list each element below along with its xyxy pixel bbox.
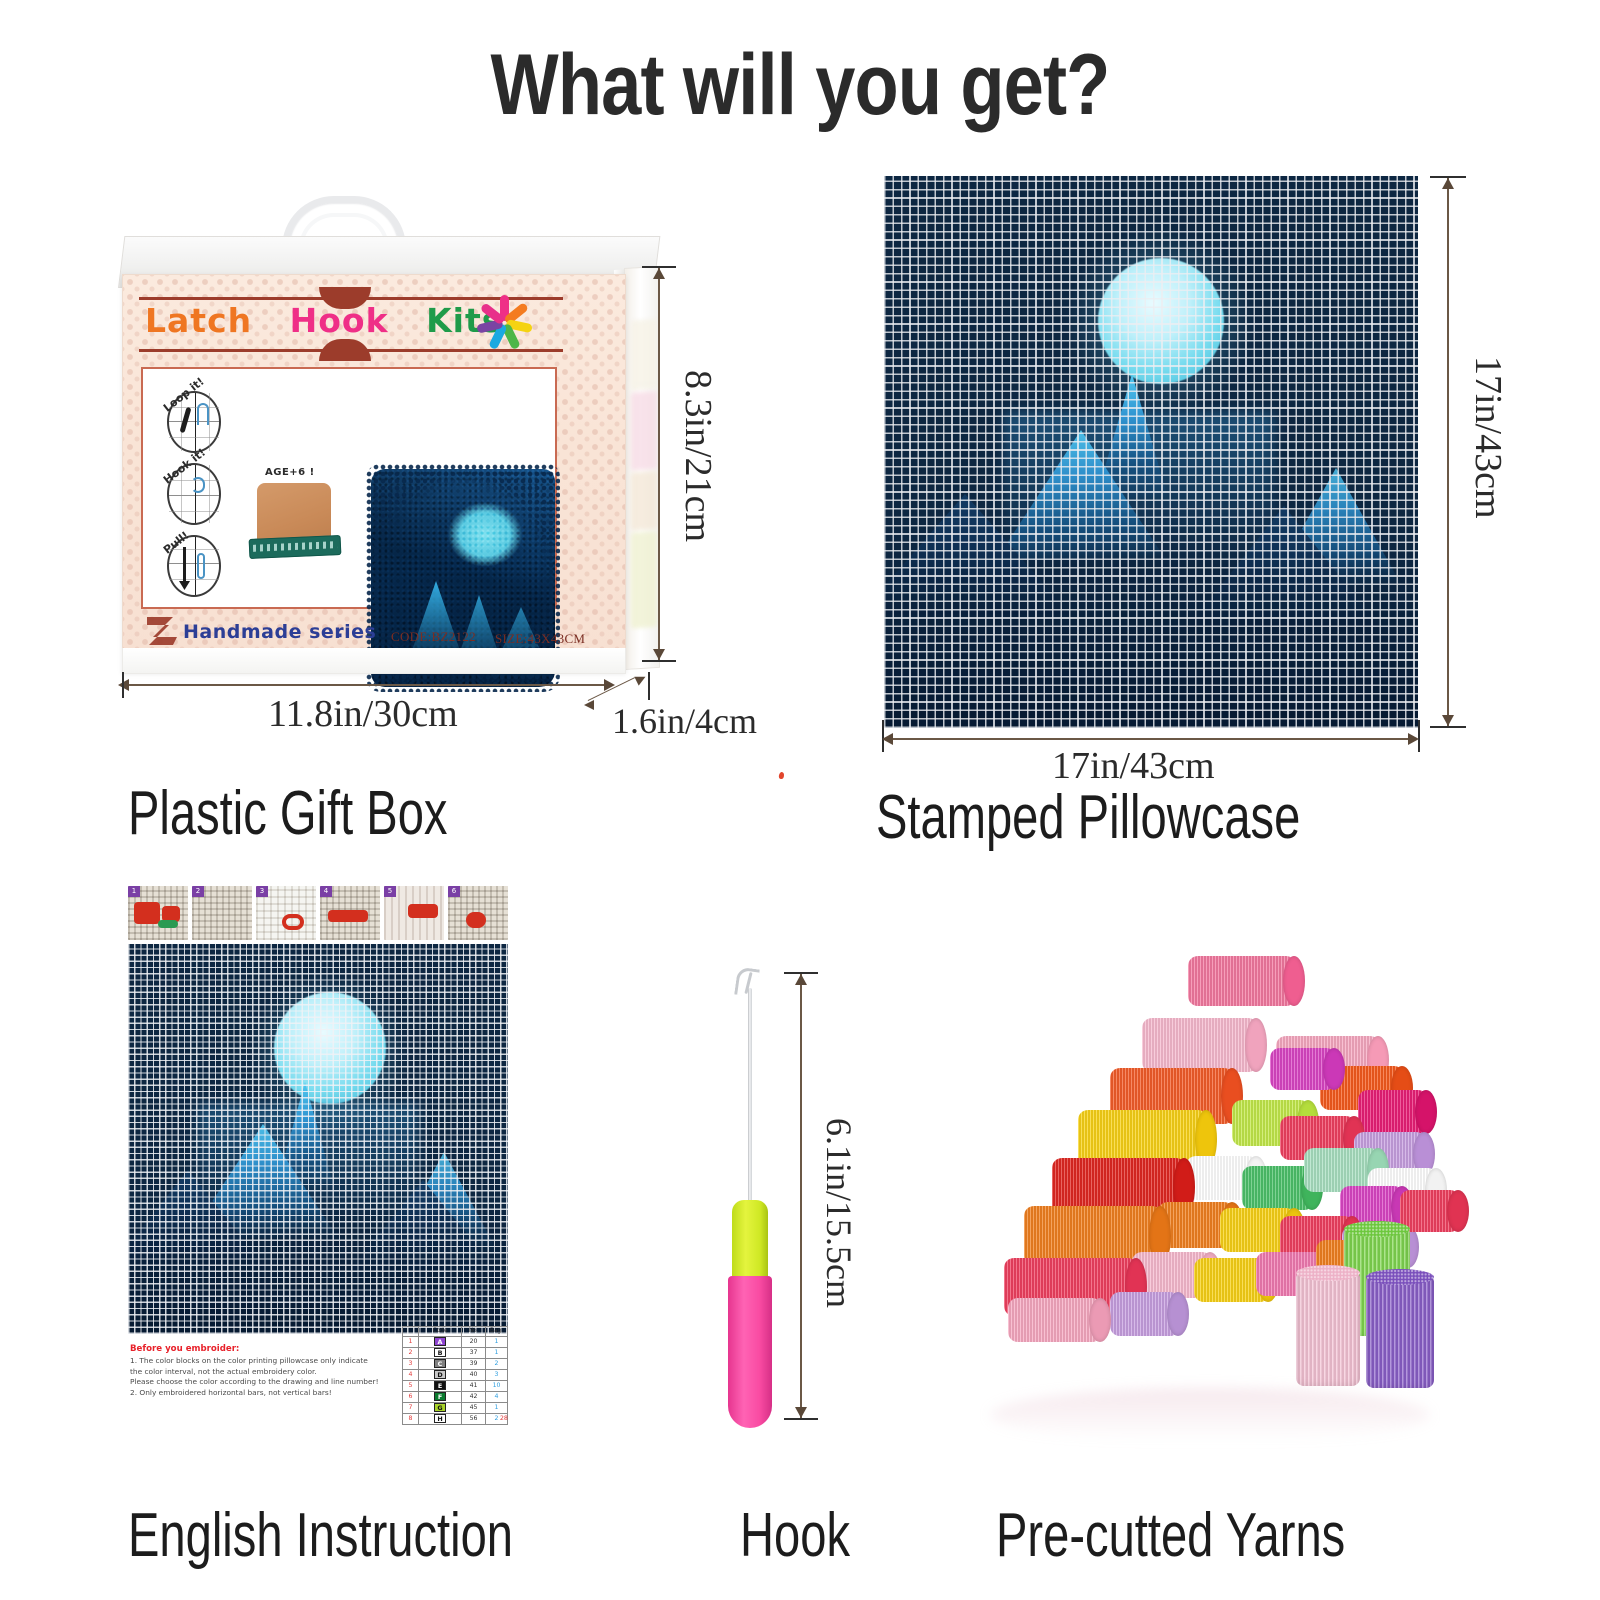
cell-index: 5 [403, 1380, 419, 1391]
caption-pre-cutted-yarns: Pre-cutted Yarns [996, 1500, 1345, 1571]
cell-index: 1 [403, 1336, 419, 1347]
hook-length-dim-line [800, 974, 802, 1418]
case-width-arrow-left [882, 733, 893, 745]
box-height-arrow-bottom [653, 649, 665, 660]
yarn-piece [1008, 1298, 1102, 1342]
moon-shape [1098, 258, 1224, 384]
yarn-piece [1270, 1048, 1336, 1090]
plastic-gift-box-image: Latch Hook Kits [108, 196, 668, 696]
yarn-bundle-pink [1296, 1272, 1360, 1386]
cell-index: 2 [403, 1347, 419, 1358]
instruction-thumbnail-strip: 1 2 3 4 5 [128, 886, 508, 940]
yarn-piece [1110, 1292, 1180, 1336]
box-brand-title: Latch Hook Kits [145, 301, 502, 340]
cell-no: 40 [462, 1369, 486, 1380]
cell-code: B [419, 1347, 462, 1358]
cell-code: A [419, 1336, 462, 1347]
thumbnail-badge: 4 [320, 886, 332, 897]
cell-bag: 1 [486, 1336, 508, 1347]
col-code: Code [419, 1327, 462, 1337]
cell-bag: 3 [486, 1369, 508, 1380]
color-swatch: E [434, 1381, 446, 1390]
stamped-pillowcase-image [884, 176, 1418, 728]
table-row: 7 G 45 1 [403, 1402, 508, 1413]
cell-code: C [419, 1358, 462, 1369]
case-width-dim-line [888, 738, 1414, 740]
table-row: 3 C 39 2 [403, 1358, 508, 1369]
cell-no: 56 [462, 1413, 486, 1424]
box-width-cap-left [122, 672, 124, 698]
pinwheel-logo-icon [473, 291, 535, 353]
case-height-arrow-bottom [1442, 715, 1454, 726]
mini-pillow-band [249, 535, 342, 559]
box-width-dim-line [124, 684, 612, 686]
color-swatch: B [434, 1348, 446, 1357]
color-swatch: D [434, 1370, 446, 1379]
case-height-dimension-label: 17in/43cm [1466, 356, 1510, 519]
thumbnail-badge: 3 [256, 886, 268, 897]
yarn-color-code-table: Code No. Bag. 1 A 20 1 2 B 37 1 3 C 39 2 [402, 1326, 508, 1425]
instruction-note-block: Before you embroider: 1. The color block… [130, 1344, 396, 1398]
caption-english-instruction: English Instruction [128, 1500, 513, 1571]
cell-index: 7 [403, 1402, 419, 1413]
yarn-reflection [990, 1388, 1430, 1442]
cell-index: 6 [403, 1391, 419, 1402]
pillowcase-artwork [884, 176, 1418, 728]
case-height-cap-bottom [1430, 726, 1466, 728]
product-size-text: SIZE:43X43CM [495, 631, 585, 647]
col-no: No. [462, 1327, 486, 1337]
table-row: 1 A 20 1 [403, 1336, 508, 1347]
instruction-thumbnail: 3 [256, 886, 316, 940]
cell-no: 42 [462, 1391, 486, 1402]
case-height-dim-line [1447, 178, 1449, 726]
caption-stamped-pillowcase: Stamped Pillowcase [876, 782, 1300, 853]
product-code-text: CODE:BZ2122 [391, 629, 476, 645]
hook-handle-upper [732, 1200, 768, 1278]
cell-bag: 1 [486, 1402, 508, 1413]
case-width-arrow-right [1408, 733, 1419, 745]
table-header-row: Code No. Bag. [403, 1327, 508, 1337]
box-side-face [624, 266, 660, 670]
handmade-series-text: Handmade series [183, 621, 376, 643]
box-inner-panel: Loop it! Hook it! [141, 367, 557, 609]
note-line: 1. The color blocks on the color printin… [130, 1356, 396, 1367]
yarn-piece [1400, 1190, 1460, 1232]
cell-code: E [419, 1380, 462, 1391]
thumbnail-badge: 6 [448, 886, 460, 897]
english-instruction-image: 1 2 3 4 5 [124, 886, 514, 1486]
color-swatch: C [434, 1359, 446, 1368]
box-height-arrow-top [653, 268, 665, 279]
instruction-thumbnail: 5 [384, 886, 444, 940]
yarn-piece [1358, 1090, 1428, 1134]
box-height-cap-bottom [642, 660, 676, 662]
cell-code: G [419, 1402, 462, 1413]
series-dot-mark: ▪ [337, 627, 342, 644]
note-line: Please choose the color according to the… [130, 1377, 396, 1388]
box-depth-cap [648, 672, 650, 700]
cell-bag: 4 [486, 1391, 508, 1402]
box-side-yarn-4 [631, 531, 657, 629]
box-bottom-band [122, 648, 626, 674]
box-side-yarn-3 [631, 471, 657, 531]
instruction-moon-shape [274, 992, 386, 1104]
brand-word-latch: Latch [145, 301, 252, 340]
red-speck-artifact [778, 772, 784, 780]
cell-no: 41 [462, 1380, 486, 1391]
note-line: the color interval, not the actual embro… [130, 1367, 396, 1378]
table-row: 8 H 56 2 [403, 1413, 508, 1424]
ribbon-z-icon [143, 611, 183, 651]
cell-code: H [419, 1413, 462, 1424]
hook-length-dimension-label: 6.1in/15.5cm [818, 1118, 860, 1308]
note-heading: Before you embroider: [130, 1344, 396, 1354]
age-label: AGE+6 ! [265, 467, 315, 478]
pre-cutted-yarns-image [960, 940, 1460, 1440]
table-row: 4 D 40 3 [403, 1369, 508, 1380]
color-table-total: 28 [500, 1414, 508, 1422]
thumbnail-badge: 2 [192, 886, 204, 897]
col-bag: Bag. [486, 1327, 508, 1337]
color-swatch: H [434, 1414, 446, 1423]
cell-index: 3 [403, 1358, 419, 1369]
cell-code: F [419, 1391, 462, 1402]
box-width-dimension-label: 11.8in/30cm [268, 692, 458, 736]
brand-word-hook: Hook [290, 301, 389, 340]
box-header-scallop-bottom [319, 339, 371, 361]
yarn-piece [1188, 956, 1296, 1006]
box-side-yarn-2 [631, 391, 657, 471]
infographic-page: What will you get? Latch Hook Kits [0, 0, 1600, 1600]
instruction-thumbnail: 1 [128, 886, 188, 940]
thumbnail-badge: 5 [384, 886, 396, 897]
yarn-piece [1142, 1018, 1258, 1072]
box-height-dimension-label: 8.3in/21cm [676, 370, 720, 542]
box-side-yarn-1 [631, 319, 657, 391]
hook-length-cap-bottom [784, 1418, 818, 1420]
box-depth-dimension-label: 1.6in/4cm [612, 700, 757, 742]
box-height-dim-line [658, 268, 660, 660]
cell-index: 8 [403, 1413, 419, 1424]
hook-length-arrow-bottom [795, 1407, 807, 1418]
table-row: 5 E 41 10 [403, 1380, 508, 1391]
hook-handle-lower [728, 1276, 772, 1428]
case-height-arrow-top [1442, 178, 1454, 189]
page-title: What will you get? [128, 36, 1472, 135]
cell-no: 37 [462, 1347, 486, 1358]
instruction-foreground [128, 1204, 508, 1334]
hook-length-arrow-top [795, 974, 807, 985]
cell-no: 39 [462, 1358, 486, 1369]
box-front-face: Latch Hook Kits [122, 274, 626, 672]
instruction-artwork [128, 944, 508, 1334]
box-depth-arrow-left [584, 700, 594, 710]
instruction-thumbnail: 4 [320, 886, 380, 940]
instruction-thumbnail: 6 [448, 886, 508, 940]
instruction-pattern-canvas [128, 944, 508, 1334]
cell-no: 45 [462, 1402, 486, 1413]
yarn-bundle-purple [1366, 1276, 1434, 1388]
color-swatch: F [434, 1392, 446, 1401]
caption-plastic-gift-box: Plastic Gift Box [128, 778, 447, 849]
col-index [403, 1327, 419, 1337]
cell-index: 4 [403, 1369, 419, 1380]
color-swatch: G [434, 1403, 446, 1412]
instruction-thumbnail: 2 [192, 886, 252, 940]
hook-needle-shaft [748, 988, 752, 1206]
cell-bag: 1 [486, 1347, 508, 1358]
thumbnail-badge: 1 [128, 886, 140, 897]
cell-code: D [419, 1369, 462, 1380]
table-row: 2 B 37 1 [403, 1347, 508, 1358]
cell-bag: 10 [486, 1380, 508, 1391]
foreground-shadow [884, 548, 1418, 728]
note-line: 2. Only embroidered horizontal bars, not… [130, 1388, 396, 1399]
cell-no: 20 [462, 1336, 486, 1347]
caption-hook: Hook [740, 1500, 850, 1571]
table-row: 6 F 42 4 [403, 1391, 508, 1402]
color-swatch: A [434, 1337, 446, 1346]
cell-bag: 2 [486, 1358, 508, 1369]
